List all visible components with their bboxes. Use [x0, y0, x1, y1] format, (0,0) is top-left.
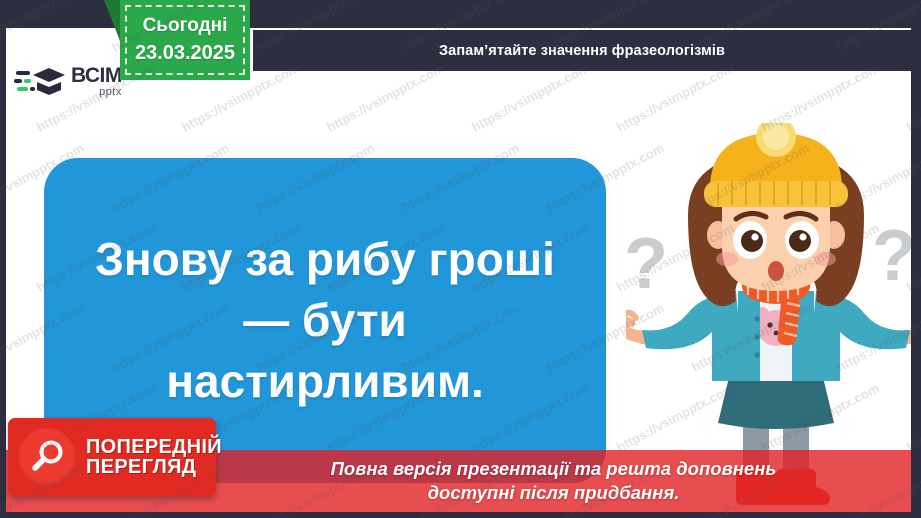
purchase-notice-line1: Повна версія презентації та решта доповн…: [331, 457, 777, 481]
purchase-notice-text: Повна версія презентації та решта доповн…: [331, 457, 777, 504]
date-badge-today-label: Сьогодні: [143, 15, 228, 37]
preview-badge-line1: ПОПЕРЕДНІЙ: [86, 437, 222, 457]
preview-badge-line2: ПЕРЕГЛЯД: [86, 457, 222, 477]
purchase-notice-line2: доступні після придбання.: [331, 481, 777, 505]
magnifier-icon-circle: [18, 428, 76, 486]
magnifier-icon: [28, 438, 66, 476]
date-badge: Сьогодні 23.03.2025: [120, 0, 250, 80]
phrase-text: Знову за рибу гроші — бути настирливим.: [44, 229, 606, 411]
preview-badge[interactable]: ПОПЕРЕДНІЙ ПЕРЕГЛЯД: [8, 418, 216, 496]
girl-skirt: [718, 373, 834, 429]
girl-beanie-hat: [704, 123, 848, 207]
header-bar: Запам’ятайте значення фразеологізмів: [253, 30, 911, 71]
slide-window: Знову за рибу гроші — бути настирливим. …: [0, 0, 921, 518]
logo-name: ВСІМ: [71, 65, 122, 86]
preview-badge-text: ПОПЕРЕДНІЙ ПЕРЕГЛЯД: [86, 437, 222, 478]
logo-sub: pptx: [71, 87, 122, 98]
brand-logo: ВСІМ pptx: [14, 60, 134, 102]
date-badge-date: 23.03.2025: [135, 42, 235, 65]
graduation-cap-icon: [32, 66, 66, 96]
page-title: Запам’ятайте значення фразеологізмів: [439, 43, 725, 59]
